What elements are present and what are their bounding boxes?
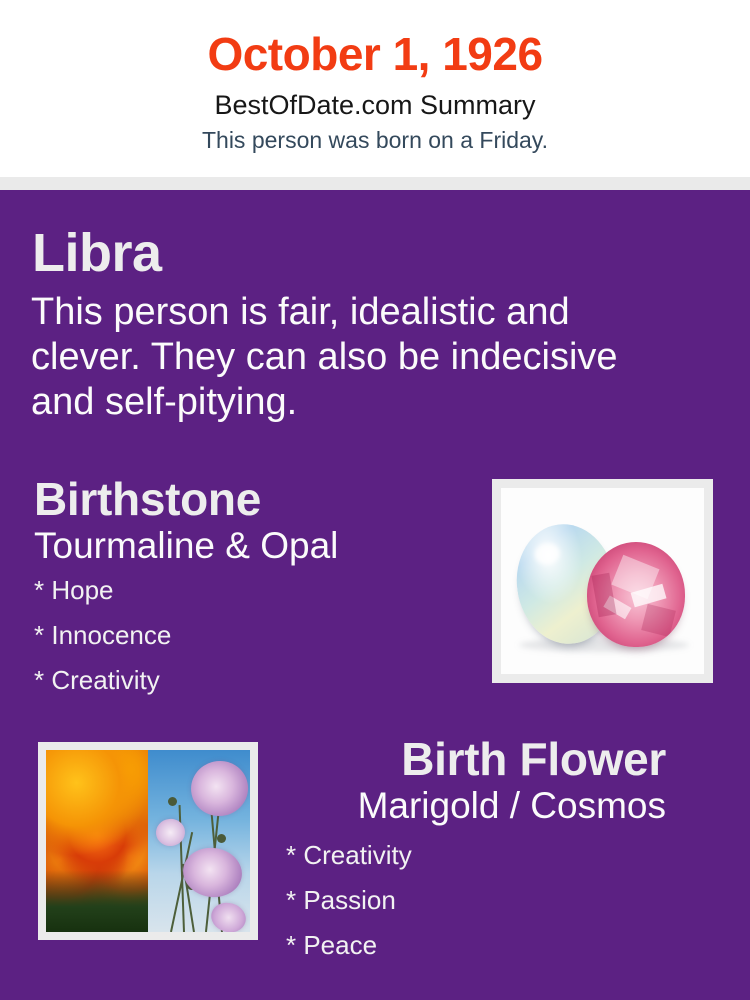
list-item: * Innocence <box>34 613 474 658</box>
header-banner: October 1, 1926 BestOfDate.com Summary T… <box>0 0 750 177</box>
list-item: * Peace <box>286 923 666 968</box>
flower-illustration <box>46 750 250 932</box>
gemstone-illustration <box>501 488 704 674</box>
list-item: * Hope <box>34 568 474 613</box>
list-item: * Creativity <box>286 833 666 878</box>
birthstone-heading: Birthstone <box>34 471 474 527</box>
birth-flower-heading: Birth Flower <box>270 731 666 787</box>
flower-bud <box>168 797 177 806</box>
cosmos-bloom <box>180 844 245 901</box>
cosmos-photo-half <box>148 750 250 932</box>
cosmos-bloom <box>186 756 250 821</box>
flower-bud <box>217 834 226 843</box>
gem-shadow <box>519 638 689 652</box>
header-divider <box>0 177 750 190</box>
cosmos-bloom <box>208 899 249 932</box>
birth-flower-trait-list: * Creativity * Passion * Peace <box>270 833 666 968</box>
birth-weekday-note: This person was born on a Friday. <box>0 122 750 155</box>
birthstone-name: Tourmaline & Opal <box>34 524 474 568</box>
zodiac-description: This person is fair, idealistic and clev… <box>31 290 631 425</box>
birth-flower-name: Marigold / Cosmos <box>270 784 666 828</box>
gem-facet <box>641 604 676 638</box>
zodiac-sign-title: Libra <box>32 222 162 284</box>
page-title-date: October 1, 1926 <box>0 0 750 82</box>
birthstone-trait-list: * Hope * Innocence * Creativity <box>34 568 474 703</box>
list-item: * Creativity <box>34 658 474 703</box>
birthstone-section: Birthstone Tourmaline & Opal * Hope * In… <box>34 471 474 703</box>
birthstone-image <box>492 479 713 683</box>
birth-flower-image <box>38 742 258 940</box>
site-summary-label: BestOfDate.com Summary <box>0 82 750 122</box>
tourmaline-gem-icon <box>587 542 685 647</box>
summary-poster: October 1, 1926 BestOfDate.com Summary T… <box>0 0 750 1000</box>
marigold-photo-half <box>46 750 148 932</box>
birth-flower-section: Birth Flower Marigold / Cosmos * Creativ… <box>270 731 666 968</box>
list-item: * Passion <box>286 878 666 923</box>
